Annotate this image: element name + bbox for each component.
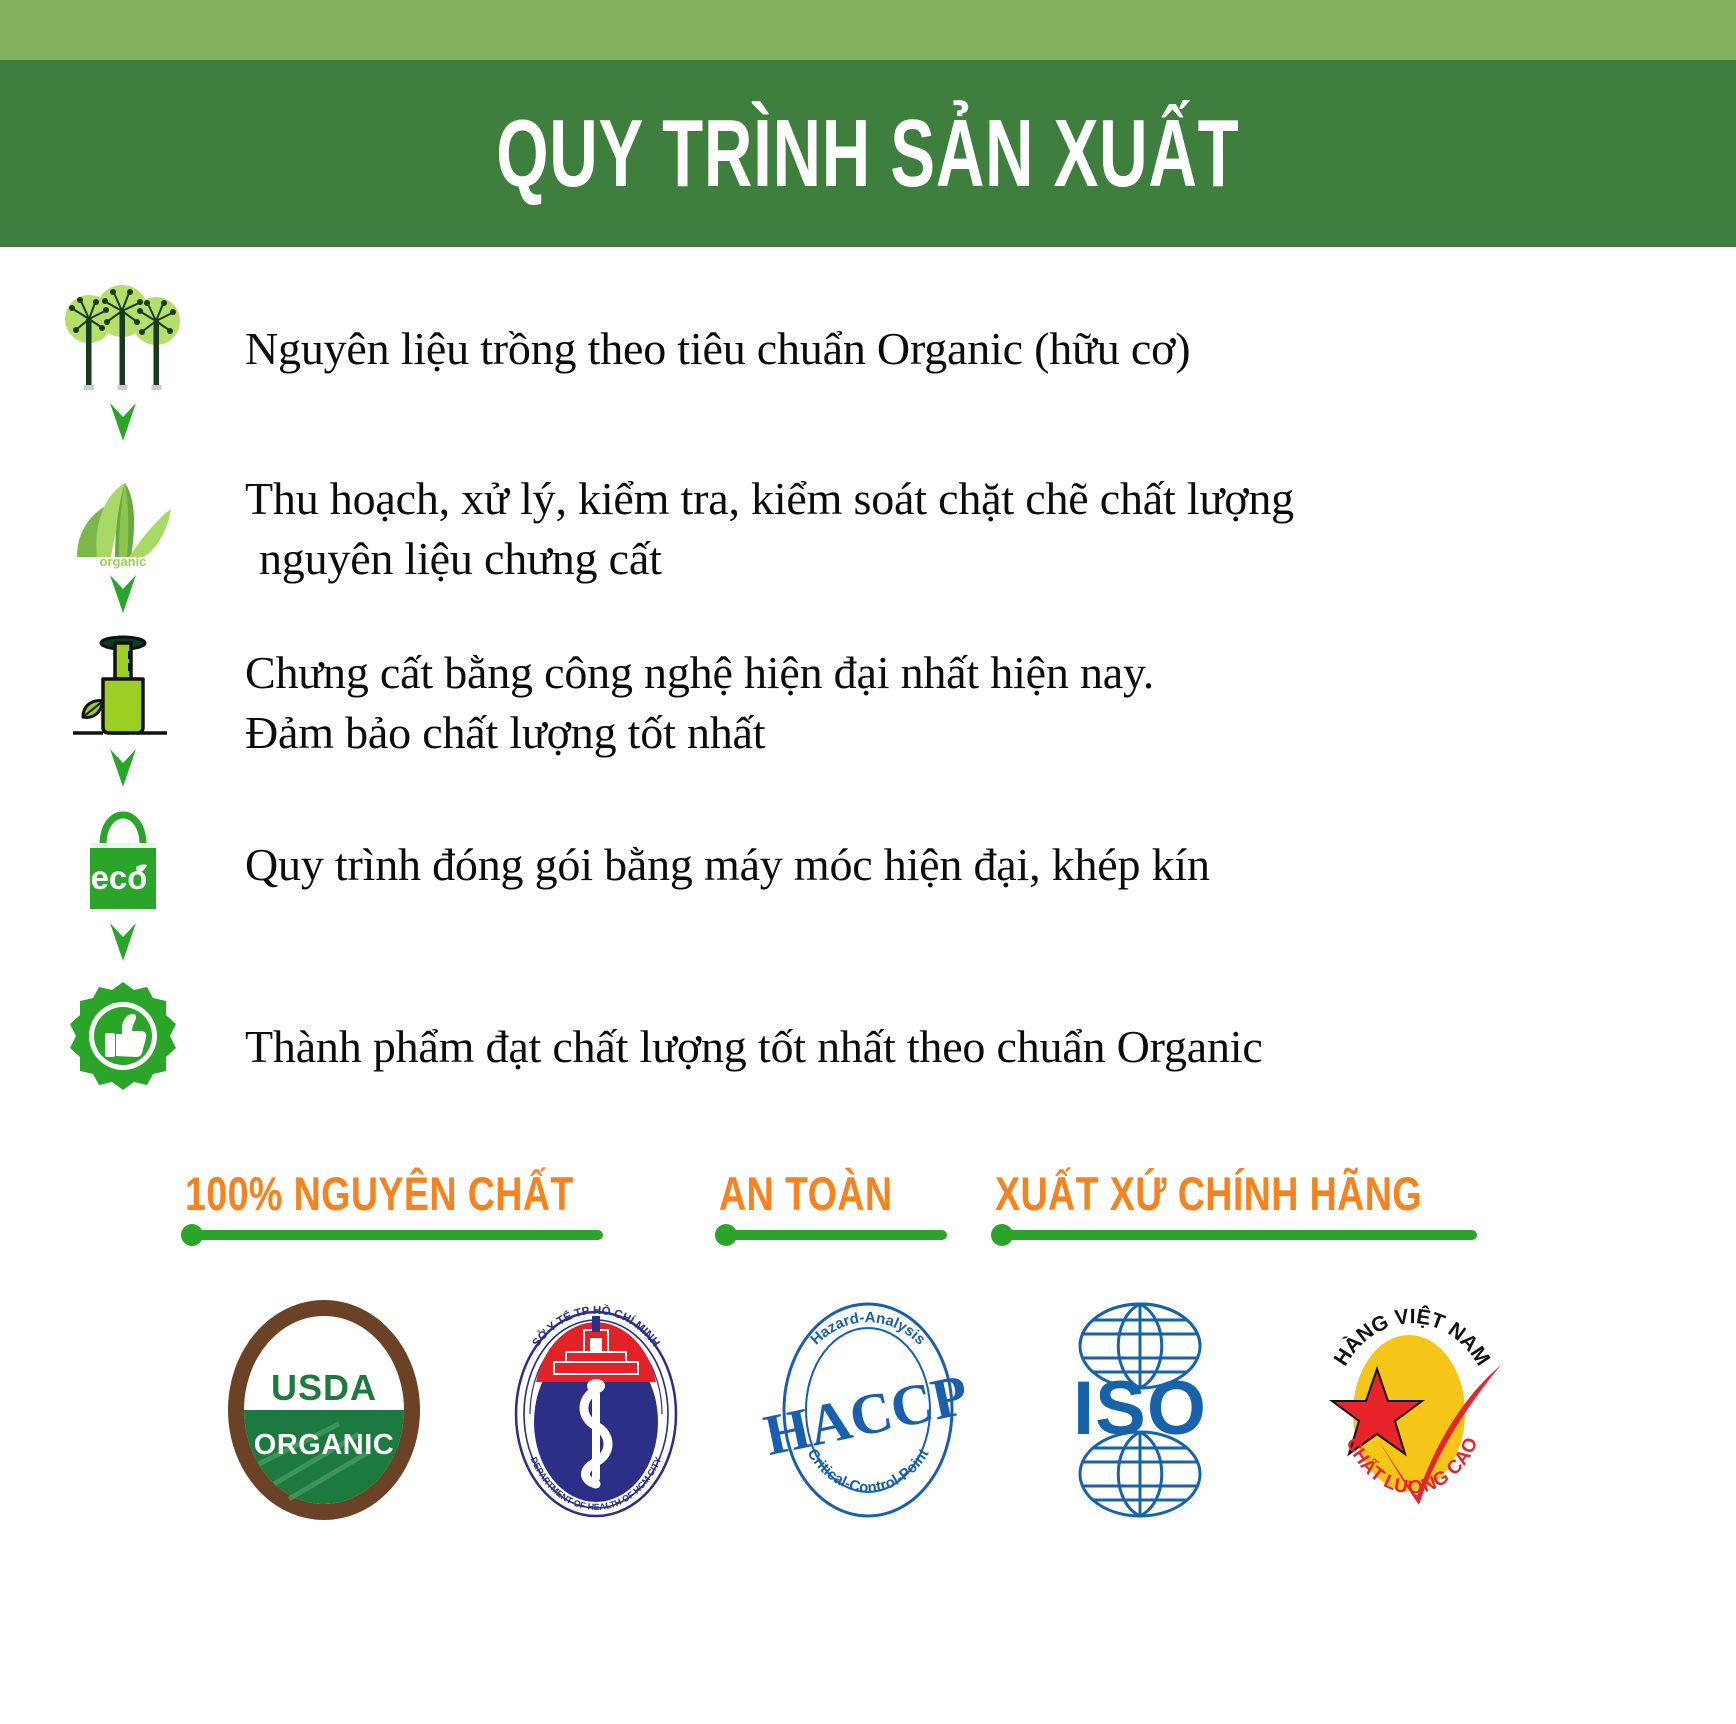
chevron-down-arrow-icon bbox=[103, 569, 143, 625]
step-icon-column bbox=[0, 285, 245, 453]
header-dark-band: QUY TRÌNH SẢN XUẤT bbox=[0, 60, 1736, 247]
haccp-seal-icon: HACCP Hazard-Analysis Critical-Control-P… bbox=[753, 1292, 983, 1528]
iso-center-text: ISO bbox=[1073, 1366, 1207, 1451]
organic-leaves-icon: organic bbox=[58, 457, 188, 569]
header-light-band bbox=[0, 0, 1736, 60]
essential-oil-bottle-icon bbox=[58, 631, 188, 743]
process-step: eco Quy trình đóng gói bằng máy móc hiện… bbox=[0, 805, 1736, 973]
feature-badge: XUẤT XỨ CHÍNH HÃNG bbox=[995, 1169, 1529, 1240]
feature-badge: 100% NGUYÊN CHẤT bbox=[185, 1169, 671, 1240]
three-trees-icon bbox=[58, 285, 188, 397]
usda-organic-seal-icon: USDA ORGANIC bbox=[209, 1292, 439, 1528]
process-step: organic Thu hoạch, xử lý, kiểm tra, kiểm… bbox=[0, 457, 1736, 625]
step-icon-column bbox=[0, 631, 245, 799]
feature-rule bbox=[185, 1230, 603, 1240]
process-steps: Nguyên liệu trồng theo tiêu chuẩn Organi… bbox=[0, 247, 1736, 1093]
step-text-line1: Thành phẩm đạt chất lượng tốt nhất theo … bbox=[245, 1021, 1263, 1072]
process-step: Chưng cất bằng công nghệ hiện đại nhất h… bbox=[0, 631, 1736, 799]
infographic-root: QUY TRÌNH SẢN XUẤT bbox=[0, 0, 1736, 1724]
step-text-line1: Quy trình đóng gói bằng máy móc hiện đại… bbox=[245, 839, 1210, 890]
step-text-line1: Nguyên liệu trồng theo tiêu chuẩn Organi… bbox=[245, 323, 1190, 374]
step-text-line1: Chưng cất bằng công nghệ hiện đại nhất h… bbox=[245, 647, 1154, 698]
header: QUY TRÌNH SẢN XUẤT bbox=[0, 0, 1736, 247]
step-text-line2: Đảm bảo chất lượng tốt nhất bbox=[245, 703, 1736, 763]
step-icon-column: eco bbox=[0, 805, 245, 973]
iso-logo-icon: ISO bbox=[1025, 1292, 1255, 1528]
chevron-down-arrow-icon bbox=[103, 397, 143, 453]
hang-viet-nam-chat-luong-cao-seal-icon: HÀNG VIỆT NAM CHẤT LƯỢNG CAO bbox=[1297, 1292, 1527, 1528]
step-text-line1: Thu hoạch, xử lý, kiểm tra, kiểm soát ch… bbox=[245, 473, 1294, 524]
haccp-center-text: HACCP bbox=[758, 1362, 973, 1468]
step-icon-column: organic bbox=[0, 457, 245, 625]
thumbs-up-badge-icon bbox=[58, 981, 188, 1093]
step-text: Thu hoạch, xử lý, kiểm tra, kiểm soát ch… bbox=[245, 457, 1736, 589]
chevron-down-arrow-icon bbox=[103, 917, 143, 973]
step-text: Thành phẩm đạt chất lượng tốt nhất theo … bbox=[245, 981, 1736, 1077]
process-step: Thành phẩm đạt chất lượng tốt nhất theo … bbox=[0, 981, 1736, 1093]
feature-badge: AN TOÀN bbox=[719, 1169, 947, 1240]
step-icon-column bbox=[0, 981, 245, 1093]
feature-label: AN TOÀN bbox=[719, 1169, 892, 1218]
feature-label: 100% NGUYÊN CHẤT bbox=[185, 1169, 574, 1218]
chevron-down-arrow-icon bbox=[103, 743, 143, 799]
step-text: Quy trình đóng gói bằng máy móc hiện đại… bbox=[245, 805, 1736, 895]
step-text: Nguyên liệu trồng theo tiêu chuẩn Organi… bbox=[245, 285, 1736, 379]
page-title: QUY TRÌNH SẢN XUẤT bbox=[496, 106, 1239, 202]
step-text: Chưng cất bằng công nghệ hiện đại nhất h… bbox=[245, 631, 1736, 763]
feature-label: XUẤT XỨ CHÍNH HÃNG bbox=[995, 1169, 1422, 1218]
usda-bottom-text: ORGANIC bbox=[254, 1429, 394, 1461]
hcm-department-of-health-seal-icon: SỞ Y TẾ TP HỒ CHÍ MINH DEPARTMENT OF HEA… bbox=[481, 1292, 711, 1528]
feature-rule bbox=[719, 1230, 947, 1240]
feature-rule bbox=[995, 1230, 1477, 1240]
usda-top-text: USDA bbox=[271, 1367, 377, 1408]
eco-bag-icon: eco bbox=[58, 805, 188, 917]
eco-bag-label: eco bbox=[90, 859, 147, 896]
certification-logos: USDA ORGANIC bbox=[0, 1292, 1736, 1528]
process-step: Nguyên liệu trồng theo tiêu chuẩn Organi… bbox=[0, 285, 1736, 453]
organic-icon-label: organic bbox=[99, 554, 146, 569]
feature-badges: 100% NGUYÊN CHẤT AN TOÀN XUẤT XỨ CHÍNH H… bbox=[0, 1169, 1736, 1240]
step-text-line2: nguyên liệu chưng cất bbox=[245, 529, 1736, 589]
